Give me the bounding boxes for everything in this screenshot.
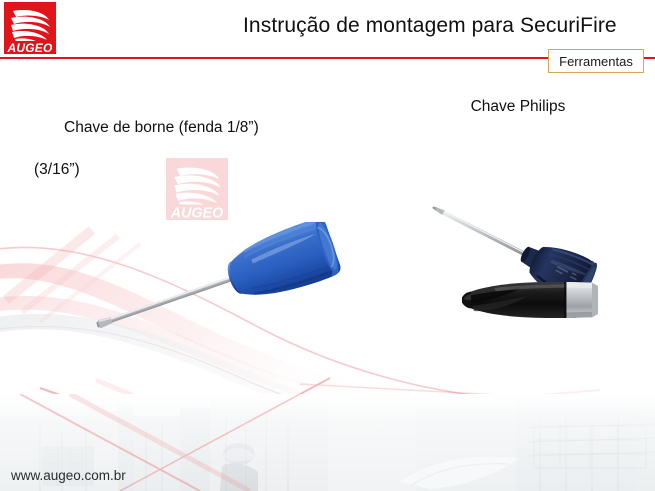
philips-screwdriver-illustration — [418, 158, 604, 343]
image-philips-screwdriver — [418, 158, 604, 343]
image-flathead-screwdriver — [88, 222, 354, 348]
svg-text:AUGEO: AUGEO — [170, 206, 223, 220]
section-tab-ferramentas[interactable]: Ferramentas — [548, 49, 644, 73]
augeo-logo: AUGEO — [4, 2, 56, 54]
philips-bit-closeup-group — [462, 282, 598, 318]
section-tab-label: Ferramentas — [559, 55, 633, 68]
caption-philips: Chave Philips — [418, 96, 618, 117]
caption-flathead: Chave de borne (fenda 1/8”) (3/16”) — [34, 96, 354, 201]
flathead-screwdriver-illustration — [88, 222, 354, 348]
augeo-logo-wordmark: AUGEO — [6, 41, 52, 54]
page-title: Instrução de montagem para SecuriFire — [243, 13, 651, 39]
slide-root: AUGEO Instrução de montagem para SecuriF… — [0, 0, 655, 491]
caption-flathead-line2: (3/16”) — [34, 159, 354, 180]
footer-website-url[interactable]: www.augeo.com.br — [11, 468, 126, 484]
augeo-logo-mark-icon: AUGEO — [4, 2, 56, 54]
caption-flathead-line1: Chave de borne (fenda 1/8”) — [34, 117, 354, 138]
